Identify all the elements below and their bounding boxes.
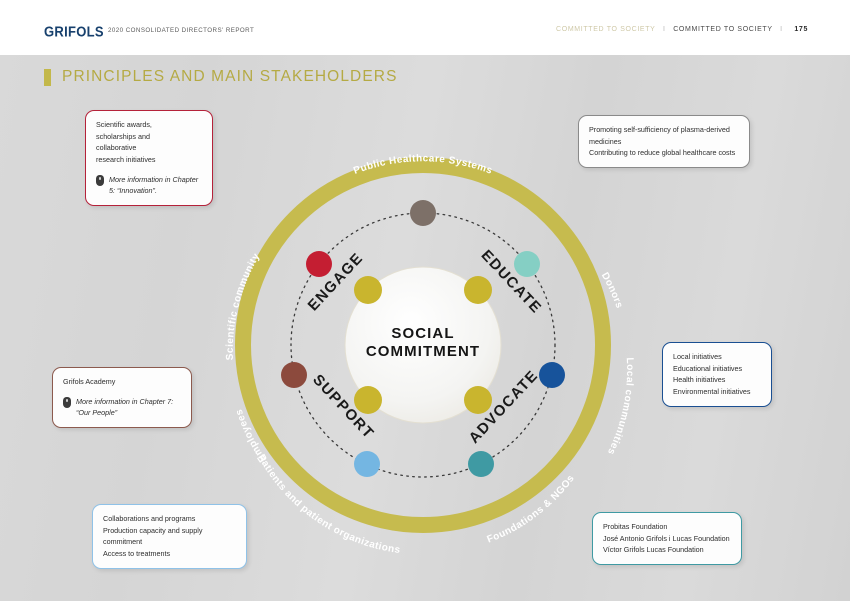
callout-line: commitment xyxy=(103,536,236,548)
callout-note: More information in Chapter 7: “Our Peop… xyxy=(63,396,181,419)
callout-line: Access to treatments xyxy=(103,548,236,560)
callout-scientific-awards: Scientific awards, scholarships and coll… xyxy=(85,110,213,206)
action-dot-engage[interactable] xyxy=(354,276,382,304)
ring-label-local-communities: Local communities xyxy=(605,357,635,456)
callout-note-text: More information in Chapter 7: “Our Peop… xyxy=(76,397,173,418)
callout-line: Local initiatives xyxy=(673,351,761,363)
page-header: GRIFOLS 2020 CONSOLIDATED DIRECTORS' REP… xyxy=(0,0,850,55)
breadcrumb-separator-1: I xyxy=(663,26,666,33)
action-dot-advocate[interactable] xyxy=(464,386,492,414)
callout-line: Collaborations and programs xyxy=(103,513,236,525)
callout-line: Promoting self-sufficiency of plasma-der… xyxy=(589,124,739,136)
breadcrumb-section-active: COMMITTED TO SOCIETY xyxy=(673,26,772,33)
breadcrumb-separator-2: I xyxy=(780,26,783,33)
callout-line: Probitas Foundation xyxy=(603,521,731,533)
callout-plasma-self-sufficiency: Promoting self-sufficiency of plasma-der… xyxy=(578,115,750,168)
callout-line: research initiatives xyxy=(96,154,202,166)
breadcrumb-section-muted: COMMITTED TO SOCIETY xyxy=(556,26,655,33)
callout-grifols-academy: Grifols Academy More information in Chap… xyxy=(52,367,192,428)
callout-foundations: Probitas Foundation José Antonio Grifols… xyxy=(592,512,742,565)
callout-line: medicines xyxy=(589,136,739,148)
stakeholder-dot-donors[interactable] xyxy=(514,251,540,277)
center-title-line2: COMMITMENT xyxy=(366,343,480,360)
callout-line: Educational initiatives xyxy=(673,363,761,375)
callout-collaborations-programs: Collaborations and programs Production c… xyxy=(92,504,247,569)
page-number: 175 xyxy=(794,26,808,33)
mouse-click-icon xyxy=(96,175,104,186)
report-title: 2020 CONSOLIDATED DIRECTORS' REPORT xyxy=(108,27,254,34)
callout-line: Environmental initiatives xyxy=(673,386,761,398)
content-area: PRINCIPLES AND MAIN STAKEHOLDERS xyxy=(0,55,850,601)
center-title-line1: SOCIAL xyxy=(391,325,454,342)
stakeholder-dot-foundations-ngos[interactable] xyxy=(468,451,494,477)
stakeholder-dot-scientific-community[interactable] xyxy=(306,251,332,277)
callout-note-text: More information in Chapter 5: “Innovati… xyxy=(109,175,198,196)
callout-line: collaborative xyxy=(96,142,202,154)
stakeholder-dot-employees[interactable] xyxy=(281,362,307,388)
stakeholder-dot-local-communities[interactable] xyxy=(539,362,565,388)
callout-note: More information in Chapter 5: “Innovati… xyxy=(96,174,202,197)
grifols-logo: GRIFOLS xyxy=(44,23,104,40)
callout-line: José Antonio Grifols i Lucas Foundation xyxy=(603,533,731,545)
callout-line: Production capacity and supply xyxy=(103,525,236,537)
callout-line: Contributing to reduce global healthcare… xyxy=(589,147,739,159)
stakeholder-dot-patients-organizations[interactable] xyxy=(354,451,380,477)
callout-local-initiatives: Local initiatives Educational initiative… xyxy=(662,342,772,407)
action-dot-educate[interactable] xyxy=(464,276,492,304)
callout-line: Víctor Grifols Lucas Foundation xyxy=(603,544,731,556)
callout-line: Grifols Academy xyxy=(63,376,181,388)
header-breadcrumb: COMMITTED TO SOCIETY I COMMITTED TO SOCI… xyxy=(556,26,808,33)
callout-line: scholarships and xyxy=(96,131,202,143)
stakeholder-dot-public-healthcare-systems[interactable] xyxy=(410,200,436,226)
callout-line: Scientific awards, xyxy=(96,119,202,131)
callout-line: Health initiatives xyxy=(673,374,761,386)
mouse-click-icon xyxy=(63,397,71,408)
